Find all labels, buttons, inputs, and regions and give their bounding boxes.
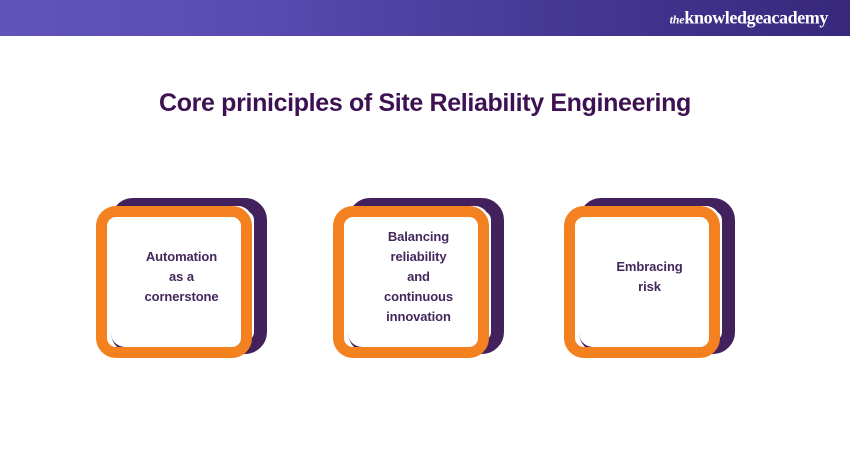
brand-logo-name: knowledgeacademy: [684, 8, 828, 28]
principle-card: Automation as a cornerstone: [96, 198, 268, 376]
card-label: Automation as a cornerstone: [111, 206, 252, 347]
principle-card: Embracing risk: [564, 198, 736, 376]
card-label: Embracing risk: [579, 206, 720, 347]
card-label: Balancing reliability and continuous inn…: [348, 206, 489, 347]
brand-logo-icon: theknowledgeacademy: [670, 9, 828, 28]
brand-logo-prefix: the: [670, 13, 685, 27]
cards-row: Automation as a cornerstone Balancing re…: [96, 198, 756, 378]
principle-card: Balancing reliability and continuous inn…: [333, 198, 505, 376]
page-title: Core priniciples of Site Reliability Eng…: [0, 88, 850, 118]
infographic-page: theknowledgeacademy Core priniciples of …: [0, 0, 850, 450]
header-band: theknowledgeacademy: [0, 0, 850, 36]
